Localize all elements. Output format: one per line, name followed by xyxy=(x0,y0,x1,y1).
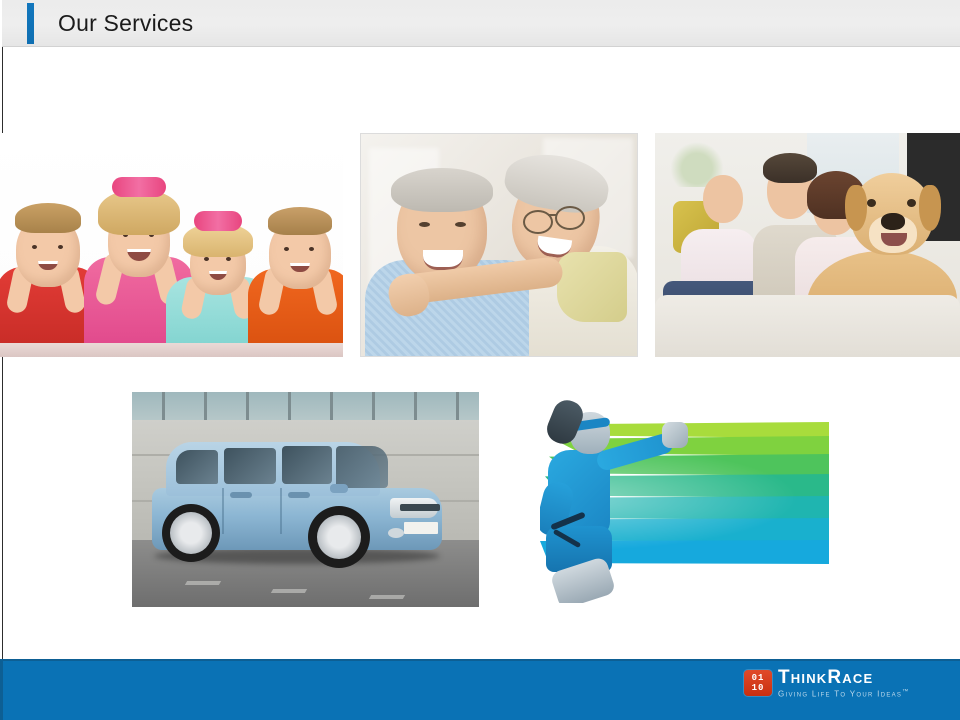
car-grille xyxy=(400,504,440,511)
family-dog-nose xyxy=(881,213,905,230)
photo-kids xyxy=(0,133,343,357)
thinkrace-logo: 01 10 ThinkRace Giving Life To Your Idea… xyxy=(744,668,910,699)
thinkrace-logo-mark-icon: 01 10 xyxy=(744,670,772,696)
kids-child-3-eye-right xyxy=(226,257,231,261)
logo-bits-bottom: 10 xyxy=(752,684,765,693)
car-road-marking-3 xyxy=(369,595,405,599)
kids-child-3-mouth xyxy=(209,271,227,280)
seniors-man-eye-right xyxy=(455,222,466,227)
car-window-rear-door xyxy=(224,448,276,484)
family-girl-head xyxy=(703,175,743,223)
seniors-man-smile xyxy=(423,250,463,270)
page-title: Our Services xyxy=(58,10,193,37)
kids-floor xyxy=(0,343,343,357)
slide-our-services: Our Services xyxy=(0,0,960,720)
family-dog-ear-left xyxy=(845,185,867,231)
car-fence xyxy=(132,392,479,422)
kids-child-1-mouth xyxy=(38,261,58,270)
family-sofa xyxy=(655,295,960,357)
seniors-woman-glasses-bridge xyxy=(548,214,557,216)
family-dog-eye-left xyxy=(867,199,876,207)
brand-name: ThinkRace xyxy=(778,668,910,687)
kids-child-2-hair-bow xyxy=(112,177,166,197)
trademark-symbol: ™ xyxy=(902,689,909,695)
brand-tagline-text: Giving Life To Your Ideas xyxy=(778,690,902,699)
seniors-man-eye-left xyxy=(419,222,430,227)
car-road-marking-2 xyxy=(271,589,307,593)
seniors-woman-scarf xyxy=(557,252,627,322)
kids-child-4-eye-left xyxy=(284,247,289,251)
car-rim-front xyxy=(317,515,361,559)
family-dog-eye-right xyxy=(907,199,916,207)
car-fog-light xyxy=(388,528,404,538)
car-door-handle-front xyxy=(288,492,310,498)
kids-child-1-eye-right xyxy=(58,245,63,249)
runner-fist xyxy=(662,422,688,448)
photo-seniors xyxy=(360,133,638,357)
car-licence-plate xyxy=(404,522,438,534)
kids-child-4-hair xyxy=(268,207,332,235)
photo-car xyxy=(132,392,479,607)
photo-family-with-dog xyxy=(655,133,960,357)
brand-tagline: Giving Life To Your Ideas™ xyxy=(778,688,910,699)
kids-child-4-mouth xyxy=(290,263,310,272)
car-door-handle-rear xyxy=(230,492,252,498)
car-door-seam-1 xyxy=(222,488,224,534)
logo-bits-top: 01 xyxy=(752,674,765,683)
car-door-seam-2 xyxy=(280,488,282,534)
footer-left-edge xyxy=(0,659,3,720)
kids-child-3-eye-left xyxy=(204,257,209,261)
seniors-woman-glasses-right xyxy=(555,206,585,230)
car-mirror xyxy=(330,484,348,493)
kids-child-4-eye-right xyxy=(309,247,314,251)
kids-child-3-hair-bow xyxy=(194,211,242,231)
photo-runner xyxy=(540,398,829,603)
family-dog-ear-right xyxy=(919,185,941,231)
kids-child-1-hair xyxy=(15,203,81,233)
car-road-marking-1 xyxy=(185,581,221,585)
car-window-front-door xyxy=(282,446,332,484)
header-left-gutter xyxy=(0,0,2,47)
car-window-rear xyxy=(176,450,218,484)
family-father-hair xyxy=(763,153,817,183)
thinkrace-logo-text: ThinkRace Giving Life To Your Ideas™ xyxy=(778,668,910,699)
car-windshield xyxy=(336,446,388,488)
kids-child-4 xyxy=(248,195,343,353)
car-rim-rear xyxy=(170,512,212,554)
kids-child-2-mouth xyxy=(127,249,151,261)
seniors-man-hair xyxy=(391,168,493,212)
header-accent-bar xyxy=(27,3,34,44)
kids-child-1-eye-left xyxy=(32,245,37,249)
